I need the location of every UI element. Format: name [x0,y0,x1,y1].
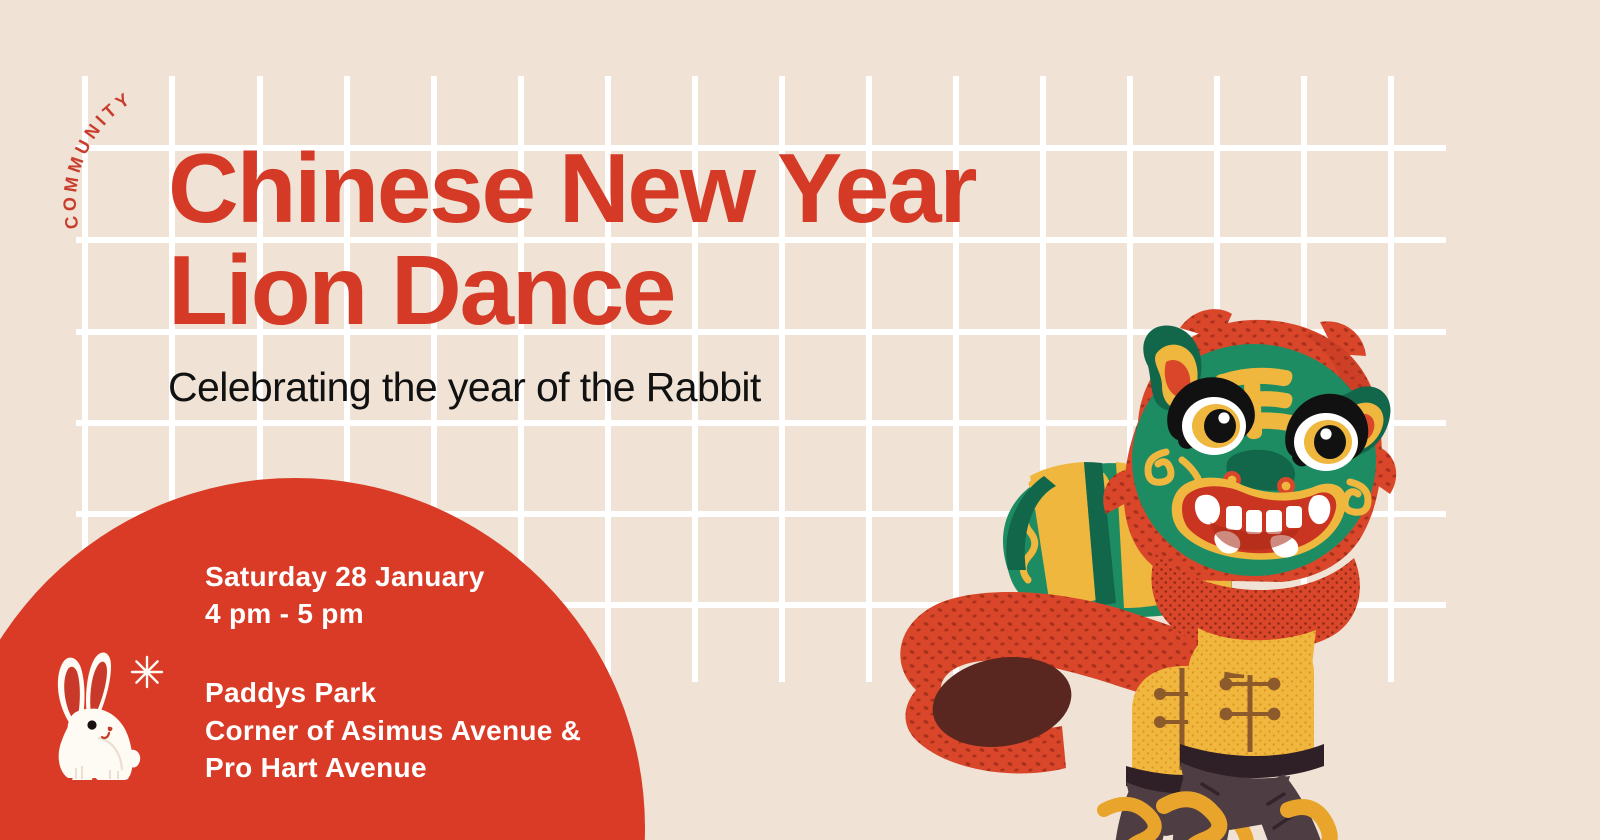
event-location: Paddys Park Corner of Asimus Avenue & Pr… [205,674,581,786]
event-date: Saturday 28 January [205,558,581,595]
event-address-line-1: Corner of Asimus Avenue & [205,712,581,749]
sparkle-icon [130,655,164,689]
event-datetime: Saturday 28 January 4 pm - 5 pm [205,558,581,632]
lion-dancer-illustration [880,270,1440,840]
page-title-line-1: Chinese New Year [168,140,1068,236]
event-details: Saturday 28 January 4 pm - 5 pm Paddys P… [205,558,581,786]
event-address-line-2: Pro Hart Avenue [205,749,581,786]
event-time: 4 pm - 5 pm [205,595,581,632]
poster-canvas: COMMUNITY Chinese New Year Lion Dance Ce… [0,0,1600,840]
event-venue: Paddys Park [205,674,581,711]
community-kicker-label: COMMUNITY [60,87,137,230]
rabbit-icon [40,628,150,788]
